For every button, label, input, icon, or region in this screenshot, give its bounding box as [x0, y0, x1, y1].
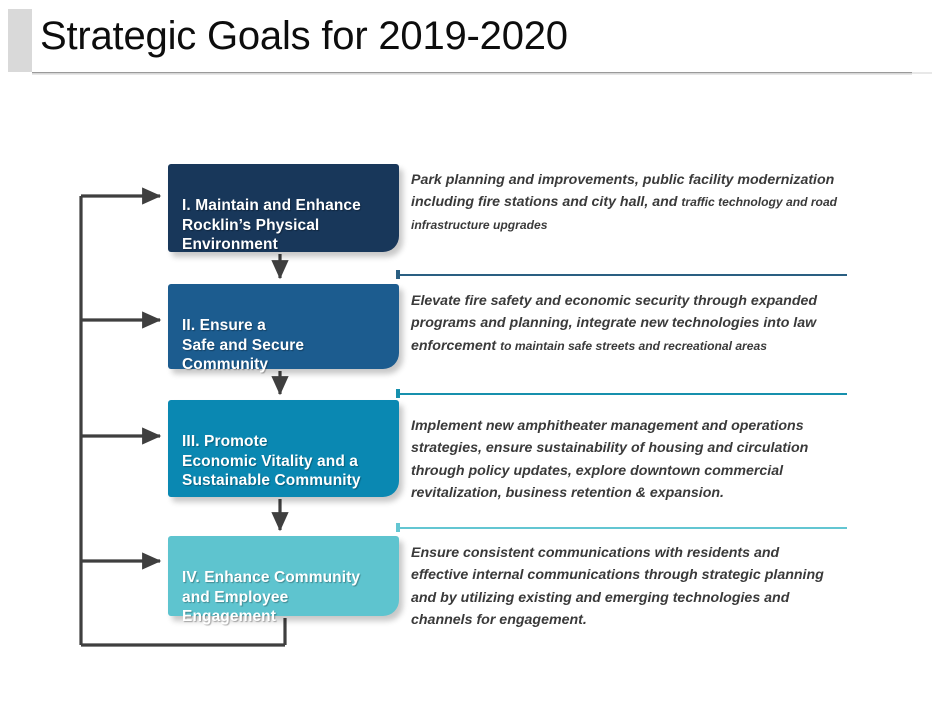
- separator-2: [399, 274, 847, 276]
- separator-4: [399, 527, 847, 529]
- goal-description-2: Elevate fire safety and economic securit…: [411, 290, 851, 357]
- goal-box-2-label: II. Ensure a Safe and Secure Community: [182, 317, 304, 374]
- goal-description-3: Implement new amphitheater management an…: [411, 415, 863, 505]
- goal-box-4-label: IV. Enhance Community and Employee Engag…: [182, 569, 360, 626]
- separator-3: [399, 393, 847, 395]
- goal-box-1-label: I. Maintain and Enhance Rocklin’s Physic…: [182, 197, 361, 254]
- goal-box-2[interactable]: II. Ensure a Safe and Secure Community: [168, 284, 399, 369]
- goal-box-3-label: III. Promote Economic Vitality and a Sus…: [182, 433, 361, 490]
- goal-description-4-main: Ensure consistent communications with re…: [411, 545, 824, 628]
- goal-description-4: Ensure consistent communications with re…: [411, 542, 836, 632]
- goal-description-1: Park planning and improvements, public f…: [411, 169, 841, 236]
- goal-box-4[interactable]: IV. Enhance Community and Employee Engag…: [168, 536, 399, 616]
- page-title: Strategic Goals for 2019-2020: [40, 14, 568, 59]
- goal-box-1[interactable]: I. Maintain and Enhance Rocklin’s Physic…: [168, 164, 399, 252]
- header-accent-bar: [8, 9, 32, 72]
- goal-box-3[interactable]: III. Promote Economic Vitality and a Sus…: [168, 400, 399, 497]
- header-divider: [32, 72, 912, 75]
- header-divider-tail: [912, 72, 932, 74]
- goal-description-2-small: to maintain safe streets and recreationa…: [500, 339, 767, 353]
- slide-canvas: Strategic Goals for 2019-2020: [0, 0, 940, 705]
- goal-description-3-main: Implement new amphitheater management an…: [411, 418, 808, 501]
